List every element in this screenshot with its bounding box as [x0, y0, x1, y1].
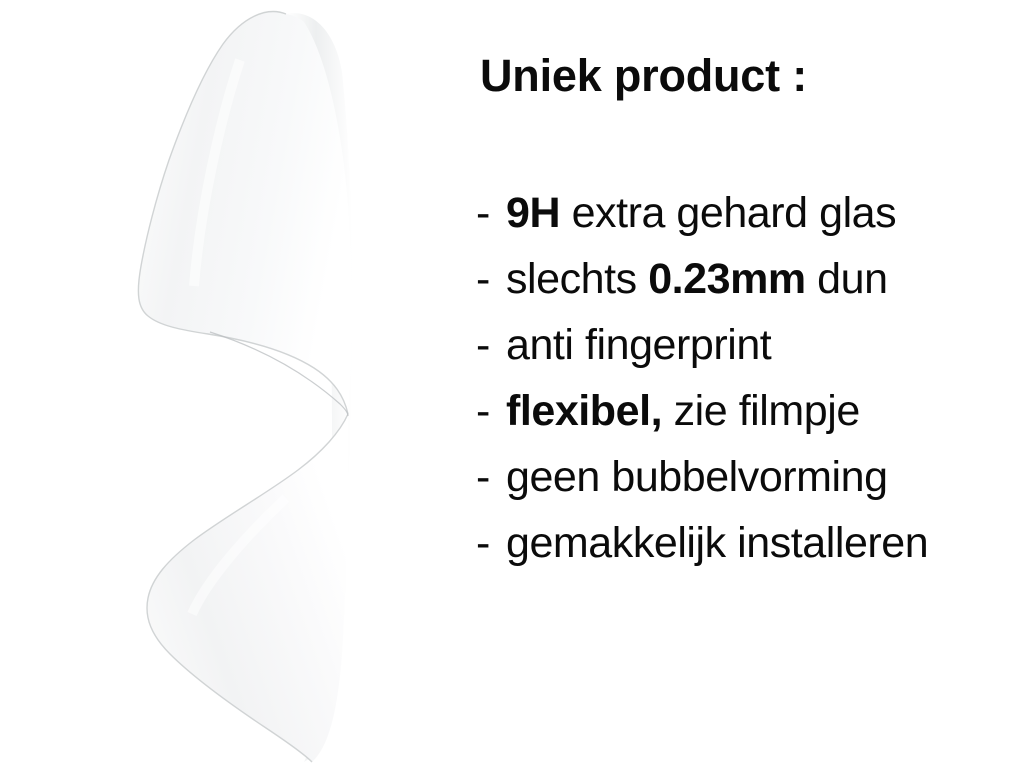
bullet-marker: -	[476, 444, 506, 510]
list-item: -geen bubbelvorming	[476, 444, 1024, 510]
feature-5-text: gemakkelijk installeren	[506, 519, 928, 567]
list-item: -flexibel, zie filmpje	[476, 378, 1024, 444]
page-title: Uniek product :	[480, 50, 807, 102]
feature-0-bold: 9H	[506, 189, 560, 237]
bullet-marker: -	[476, 378, 506, 444]
feature-1-bold: 0.23mm	[648, 255, 805, 303]
feature-1-text: dun	[806, 255, 888, 303]
feature-4-text: geen bubbelvorming	[506, 453, 888, 501]
list-item: -anti fingerprint	[476, 312, 1024, 378]
bullet-marker: -	[476, 180, 506, 246]
list-item: -gemakkelijk installeren	[476, 510, 1024, 576]
feature-3-text: zie filmpje	[662, 387, 860, 435]
list-item: -slechts 0.23mm dun	[476, 246, 1024, 312]
glass-upper-lobe	[138, 12, 351, 414]
bullet-marker: -	[476, 246, 506, 312]
glass-lower-lobe	[147, 414, 349, 762]
feature-list: -9H extra gehard glas -slechts 0.23mm du…	[476, 180, 1024, 576]
bullet-marker: -	[476, 312, 506, 378]
copy-column: Uniek product : -9H extra gehard glas -s…	[476, 0, 1024, 768]
tempered-glass-product-image	[90, 0, 430, 768]
feature-2-text: anti fingerprint	[506, 321, 771, 369]
feature-0-text: extra gehard glas	[560, 189, 896, 237]
bullet-marker: -	[476, 510, 506, 576]
feature-3-bold: flexibel,	[506, 387, 662, 435]
feature-1-lead: slechts	[506, 255, 648, 303]
product-feature-slide: Uniek product : -9H extra gehard glas -s…	[0, 0, 1024, 768]
list-item: -9H extra gehard glas	[476, 180, 1024, 246]
